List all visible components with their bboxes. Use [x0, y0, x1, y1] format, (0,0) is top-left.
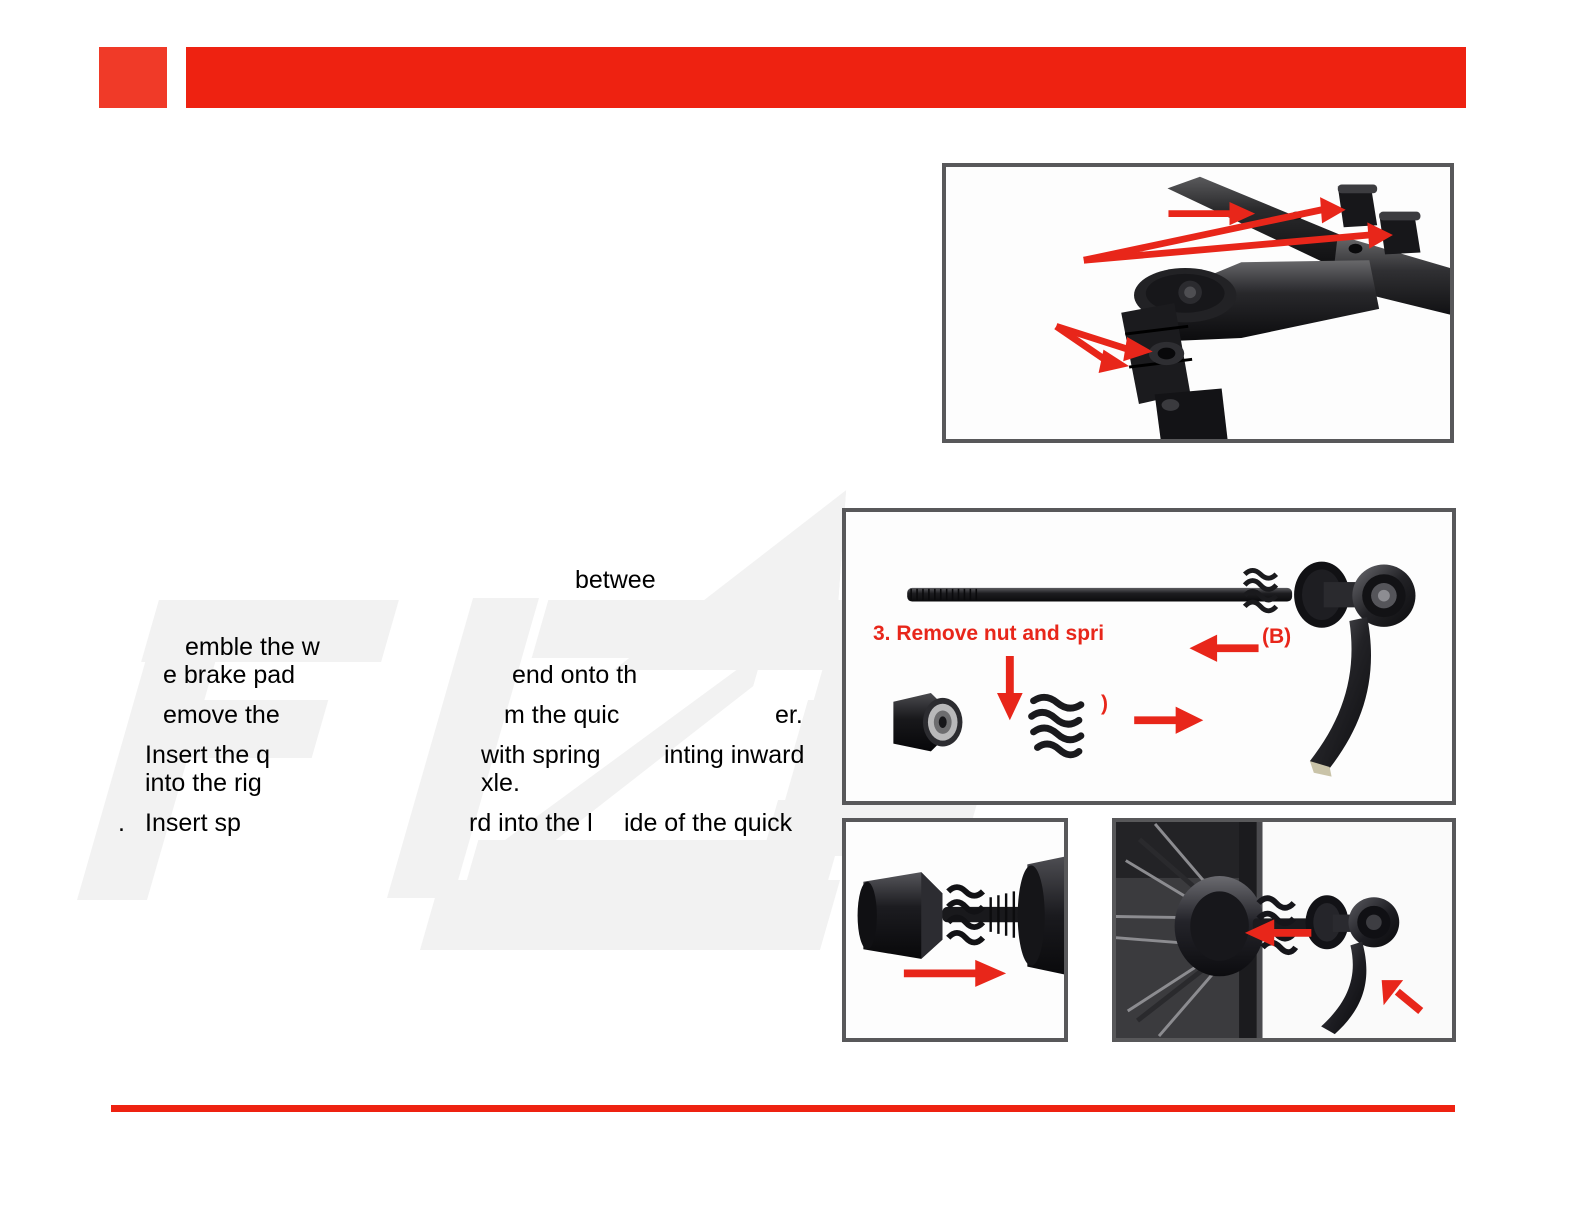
footer-red-rule	[111, 1105, 1455, 1112]
header-title-bar	[186, 47, 1466, 108]
frag-insert-the-q: Insert the q	[145, 741, 270, 770]
frag-rd-into-the-l: rd into the l	[469, 809, 593, 838]
quick-release-skewer-illustration	[846, 512, 1452, 801]
frag-er: er.	[775, 701, 803, 730]
skewer-photo-panel: 3. Remove nut and spri (B) )	[842, 508, 1456, 805]
frag-ide-of-quick: ide of the quick	[624, 809, 792, 838]
step-3-annotation: 3. Remove nut and spri	[873, 622, 1104, 646]
frag-inting-inward: inting inward	[664, 741, 804, 770]
stem-photo-panel	[942, 163, 1454, 443]
frag-period: .	[118, 809, 125, 838]
header-accent-square	[99, 47, 167, 108]
wheel-hub-skewer-illustration	[1116, 822, 1452, 1038]
frag-m-the-quic: m the quic	[504, 701, 619, 730]
frag-xle: xle.	[481, 769, 520, 798]
frag-betwee: betwee	[575, 566, 656, 595]
label-b-annotation: (B)	[1262, 625, 1291, 649]
frag-into-the-rig: into the rig	[145, 769, 262, 798]
frag-end-onto-th: end onto th	[512, 661, 637, 690]
slide-page: betweeemble the we brake padend onto the…	[0, 0, 1584, 1224]
frag-e-brake-pad: e brake pad	[163, 661, 295, 690]
frag-with-spring: with spring	[481, 741, 601, 770]
nut-detail-photo-panel	[842, 818, 1068, 1042]
frag-emble-the-w: emble the w	[185, 633, 320, 662]
frag-emove-the: emove the	[163, 701, 280, 730]
wheel-hub-photo-panel	[1112, 818, 1456, 1042]
bicycle-stem-illustration	[946, 167, 1450, 439]
paren-fragment-annotation: )	[1101, 692, 1108, 716]
frag-insert-sp: Insert sp	[145, 809, 241, 838]
nut-and-spring-detail-illustration	[846, 822, 1064, 1038]
